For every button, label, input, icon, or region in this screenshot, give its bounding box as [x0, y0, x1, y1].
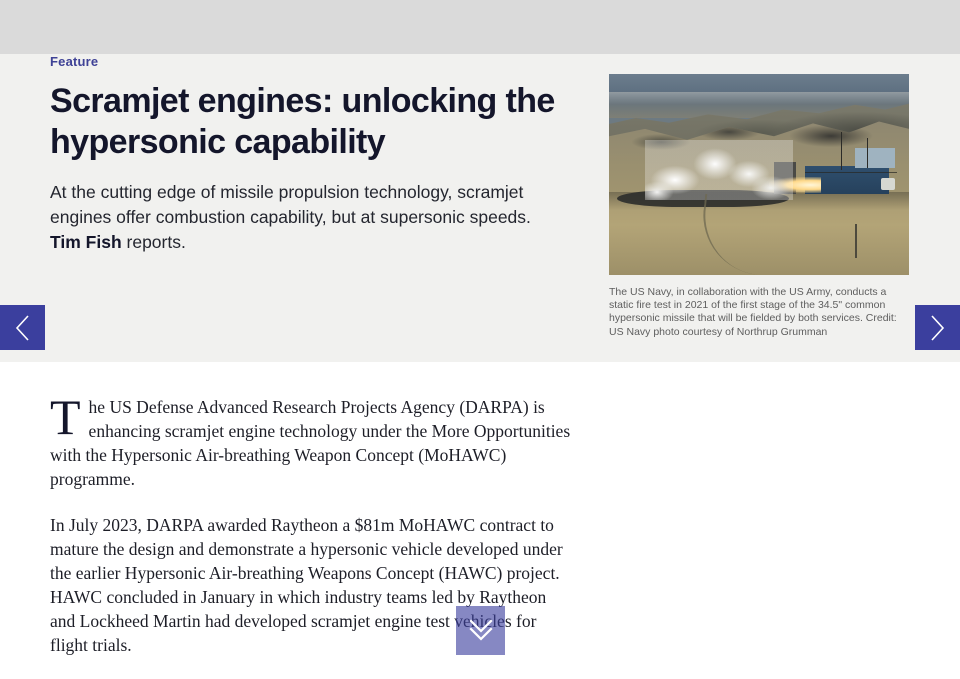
chevron-left-icon	[14, 314, 31, 342]
photo-power-line	[805, 172, 897, 173]
author-name: Tim Fish	[50, 232, 122, 252]
carousel-next-button[interactable]	[915, 305, 960, 350]
article-standfirst: At the cutting edge of missile propulsio…	[50, 180, 540, 255]
photo-utility-pole-left	[841, 132, 842, 170]
photo-caption: The US Navy, in collaboration with the U…	[609, 286, 905, 339]
hero-text-block: Feature Scramjet engines: unlocking the …	[50, 54, 570, 255]
paragraph-text: he US Defense Advanced Research Projects…	[50, 397, 570, 489]
scroll-down-button[interactable]	[456, 606, 505, 655]
article-kicker: Feature	[50, 54, 570, 69]
photo-storage-tank	[881, 178, 895, 190]
page-title: Scramjet engines: unlocking the hyperson…	[50, 81, 570, 163]
standfirst-text-lead: At the cutting edge of missile propulsio…	[50, 182, 531, 227]
browser-chrome-bar	[0, 0, 960, 54]
photo-foreground-pole	[855, 224, 857, 258]
hero-photo	[609, 74, 909, 275]
drop-cap: T	[50, 395, 89, 437]
photo-utility-pole-right	[867, 138, 868, 168]
caption-text: The US Navy, in collaboration with the U…	[609, 286, 886, 324]
carousel-prev-button[interactable]	[0, 305, 45, 350]
chevron-right-icon	[929, 314, 946, 342]
hero-figure: The US Navy, in collaboration with the U…	[609, 74, 909, 339]
article-paragraph: The US Defense Advanced Research Project…	[50, 395, 572, 491]
photo-far-building	[855, 148, 895, 168]
standfirst-text-tail: reports.	[122, 232, 186, 252]
chevron-double-down-icon	[466, 614, 496, 647]
photo-smoke-plume	[645, 140, 793, 200]
